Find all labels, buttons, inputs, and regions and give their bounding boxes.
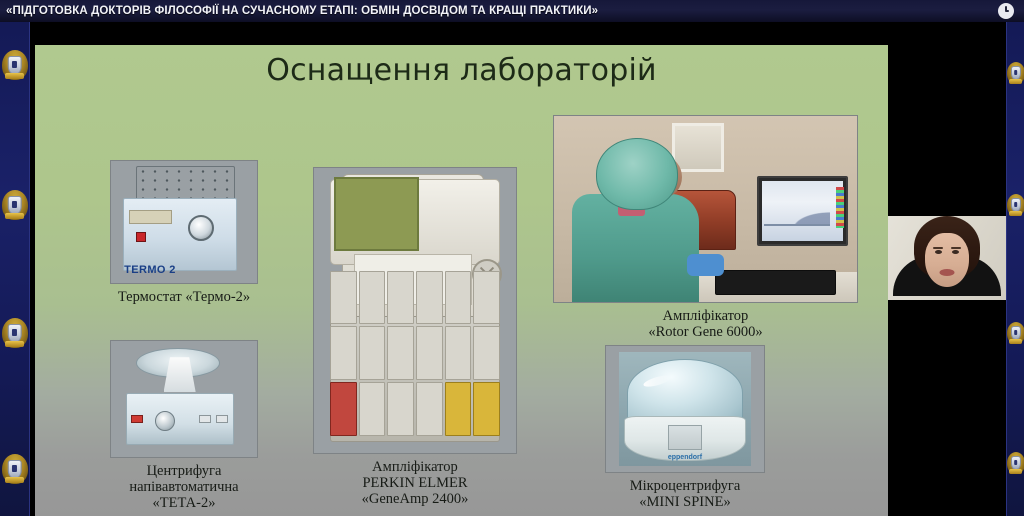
university-emblem-icon [2,190,28,220]
thermostat-photo: TERMO 2 [110,160,258,284]
figure-caption: Ампліфікатор PERKIN ELMER «GeneAmp 2400» [313,459,517,508]
perkin-elmer-photo [313,167,517,454]
figure-thermostat: TERMO 2 Термостат «Термо-2» [110,160,258,305]
topbar-right-controls [998,3,1024,19]
university-emblem-icon [2,318,28,348]
meeting-title-bar: «ПІДГОТОВКА ДОКТОРІВ ФІЛОСОФІЇ НА СУЧАСН… [0,0,1024,22]
university-emblem-icon [1007,194,1024,216]
participant-face [925,233,969,287]
slide-title: Оснащення лабораторій [35,53,888,88]
figure-caption: Мікроцентрифуга «MINI SPINE» [605,478,765,510]
figure-amplifier-rotor: Ампліфікатор «Rotor Gene 6000» [553,115,858,340]
microcentrifuge-brand-label: eppendorf [619,454,752,461]
rotor-gene-photo [553,115,858,303]
shared-screen-stage[interactable]: Оснащення лабораторій TERMO 2 Термостат … [30,22,888,516]
thermostat-brand-label: TERMO 2 [124,264,176,276]
university-emblem-icon [1007,62,1024,84]
university-emblem-icon [2,454,28,484]
figure-caption: Ампліфікатор «Rotor Gene 6000» [553,308,858,340]
clock-icon[interactable] [998,3,1014,19]
participant-video-tile[interactable] [888,202,1006,322]
right-brand-ribbon [1006,22,1024,516]
video-letterbox-bottom [888,300,1006,322]
left-brand-ribbon [0,22,30,516]
university-emblem-icon [2,50,28,80]
centrifuge-photo [110,340,258,458]
figure-caption: Термостат «Термо-2» [110,289,258,305]
microcentrifuge-photo: eppendorf [605,345,765,473]
university-emblem-icon [1007,322,1024,344]
video-letterbox-top [888,202,1006,216]
meeting-title: «ПІДГОТОВКА ДОКТОРІВ ФІЛОСОФІЇ НА СУЧАСН… [0,5,598,17]
figure-caption: Центрифуга напівавтоматична «ТЕТА-2» [110,463,258,512]
figure-centrifuge: Центрифуга напівавтоматична «ТЕТА-2» [110,340,258,512]
presentation-slide: Оснащення лабораторій TERMO 2 Термостат … [35,45,888,516]
figure-amplifier-perkin: Ампліфікатор PERKIN ELMER «GeneAmp 2400» [313,167,517,508]
meeting-window: «ПІДГОТОВКА ДОКТОРІВ ФІЛОСОФІЇ НА СУЧАСН… [0,0,1024,516]
university-emblem-icon [1007,452,1024,474]
figure-microcentrifuge: eppendorf Мікроцентрифуга «MINI SPINE» [605,345,765,510]
